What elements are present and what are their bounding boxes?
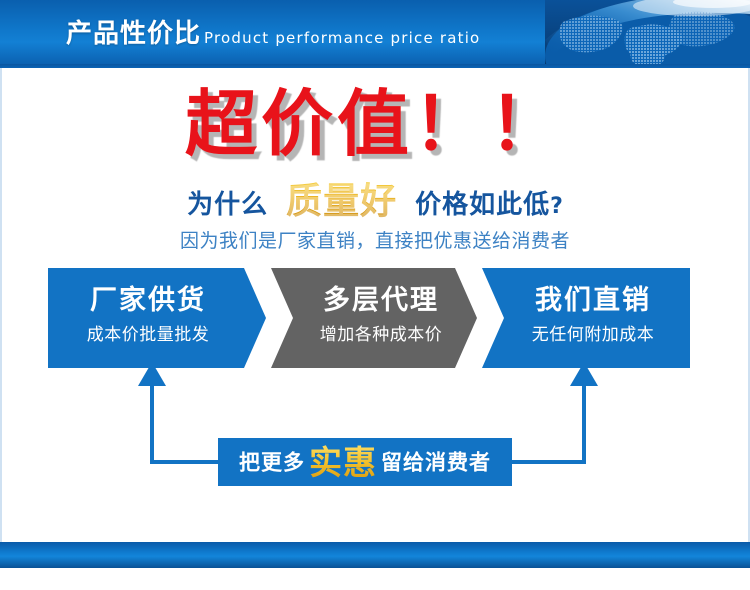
- banner-highlight: 实惠: [309, 443, 377, 482]
- bottom-banner: 把更多实惠留给消费者: [218, 438, 512, 486]
- flow-step-title: 我们直销: [496, 284, 690, 318]
- arrow-head-left: [138, 362, 166, 386]
- flow-step-title: 多层代理: [285, 284, 477, 318]
- product-value-poster: 产品性价比 Product performance price ratio 超价…: [0, 0, 750, 590]
- flow-step-title: 厂家供货: [48, 284, 248, 318]
- question-highlight: 质量好: [286, 181, 397, 222]
- flow-step-direct-sales: 我们直销 无任何附加成本: [482, 268, 690, 368]
- banner-suffix: 留给消费者: [381, 451, 491, 475]
- header-title-cn: 产品性价比: [66, 19, 201, 49]
- header-banner: 产品性价比 Product performance price ratio: [0, 0, 750, 68]
- connector-line-right: [512, 382, 584, 462]
- world-map-globe-icon: [545, 0, 750, 68]
- flow-diagram: 厂家供货 成本价批量批发 多层代理 增加各种成本价 我们直销 无任何附加成本: [0, 268, 750, 368]
- main-headline: 超价值！！: [0, 82, 750, 166]
- header-title-en: Product performance price ratio: [204, 29, 480, 47]
- flow-step-subtitle: 成本价批量批发: [48, 322, 248, 348]
- flow-step-agents: 多层代理 增加各种成本价: [271, 268, 477, 368]
- flow-step-manufacturer: 厂家供货 成本价批量批发: [48, 268, 266, 368]
- flow-step-subtitle: 增加各种成本价: [285, 322, 477, 348]
- banner-prefix: 把更多: [239, 451, 305, 475]
- question-part2: 价格如此低: [415, 190, 550, 220]
- flow-step-subtitle: 无任何附加成本: [496, 322, 690, 348]
- arrow-head-right: [570, 362, 598, 386]
- sub-description: 因为我们是厂家直销，直接把优惠送给消费者: [0, 228, 750, 254]
- question-row: 为什么质量好价格如此低?: [0, 183, 750, 227]
- question-mark: ?: [550, 194, 563, 219]
- footer-bar: [0, 542, 750, 568]
- question-part1: 为什么: [187, 190, 268, 220]
- connector-line-left: [152, 382, 218, 462]
